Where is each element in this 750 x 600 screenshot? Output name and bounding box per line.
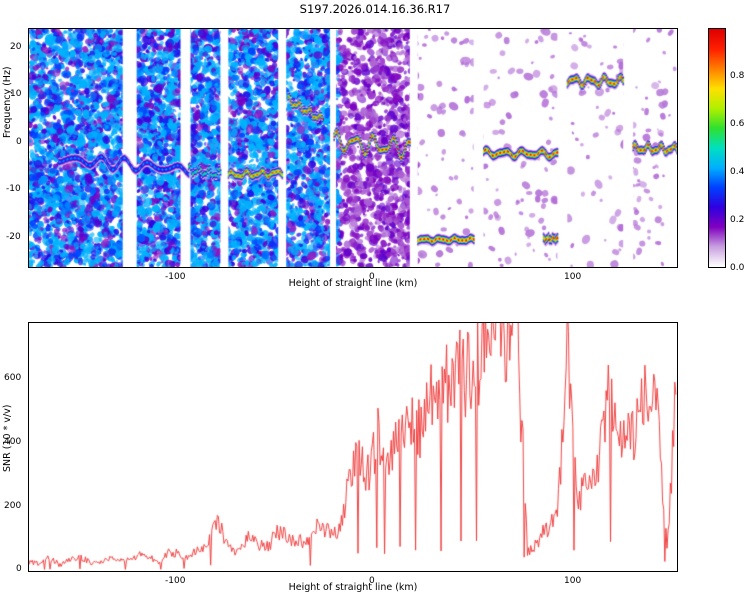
bottom-xtick-100: 100 (564, 576, 581, 586)
colorbar-tick-4: 0.8 (730, 71, 744, 81)
top-ytick--20: -20 (6, 232, 21, 242)
spectrogram-panel: Frequency (Hz) Height of straight line (… (28, 28, 678, 268)
colorbar (708, 28, 726, 268)
colorbar-tick-0: 0.0 (730, 263, 744, 273)
top-ytick-10: 10 (10, 89, 21, 99)
top-ytick-20: 20 (10, 42, 21, 52)
top-xtick--100: -100 (165, 272, 185, 282)
bottom-xtick--100: -100 (165, 576, 185, 586)
bottom-ytick-200: 200 (4, 501, 21, 511)
top-xtick-0: 0 (369, 272, 375, 282)
page-title: S197.2026.014.16.36.R17 (0, 2, 750, 16)
bottom-ytick-400: 400 (4, 437, 21, 447)
snr-line-chart (29, 323, 677, 571)
top-xtick-100: 100 (564, 272, 581, 282)
spectrogram-image (29, 29, 677, 267)
top-ytick--10: -10 (6, 184, 21, 194)
colorbar-tick-2: 0.4 (730, 167, 744, 177)
snr-plot-area (28, 322, 678, 572)
spectrogram-plot-area (28, 28, 678, 268)
colorbar-tick-1: 0.2 (730, 215, 744, 225)
top-ytick-0: 0 (16, 137, 22, 147)
colorbar-gradient (709, 29, 725, 267)
bottom-ytick-0: 0 (16, 564, 22, 574)
bottom-ytick-600: 600 (4, 373, 21, 383)
top-y-axis-label: Frequency (Hz) (2, 66, 13, 138)
colorbar-tick-3: 0.6 (730, 119, 744, 129)
bottom-xtick-0: 0 (369, 576, 375, 586)
snr-panel: SNR (10 * v/v) Height of straight line (… (28, 322, 678, 572)
